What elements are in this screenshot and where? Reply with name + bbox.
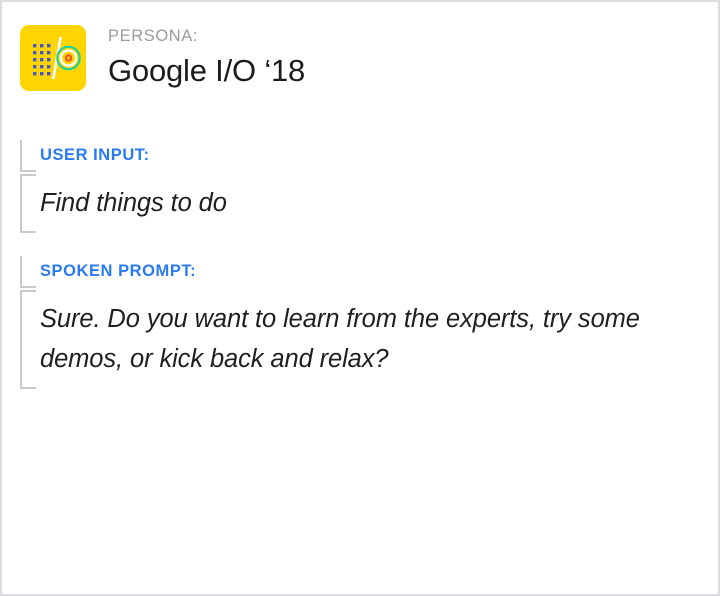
- persona-card: PERSONA: Google I/O ‘18 USER INPUT: Find…: [0, 0, 720, 596]
- persona-label: PERSONA:: [108, 27, 305, 47]
- spoken-prompt-value: Sure. Do you want to learn from the expe…: [40, 290, 680, 389]
- spoken-prompt-label-row: SPOKEN PROMPT:: [20, 256, 680, 288]
- card-header: PERSONA: Google I/O ‘18: [20, 25, 305, 91]
- spoken-prompt-label: SPOKEN PROMPT:: [40, 262, 196, 280]
- google-io-logo-icon: [20, 25, 86, 91]
- header-text-group: PERSONA: Google I/O ‘18: [108, 25, 305, 89]
- bracket-brace-icon: [20, 290, 36, 389]
- google-io-logo-svg: [20, 25, 86, 91]
- logo-center-core: [67, 57, 70, 60]
- bracket-corner-icon: [20, 256, 36, 288]
- user-input-value-row: Find things to do: [20, 174, 227, 233]
- field-block-spoken-prompt: SPOKEN PROMPT: Sure. Do you want to lear…: [20, 256, 680, 389]
- user-input-value: Find things to do: [40, 174, 227, 233]
- bracket-brace-icon: [20, 174, 36, 233]
- logo-dot-grid: [33, 44, 50, 75]
- field-block-user-input: USER INPUT: Find things to do: [20, 140, 227, 233]
- user-input-label-row: USER INPUT:: [20, 140, 227, 172]
- bracket-corner-icon: [20, 140, 36, 172]
- user-input-label: USER INPUT:: [40, 146, 150, 164]
- page-title: Google I/O ‘18: [108, 53, 305, 90]
- spoken-prompt-value-row: Sure. Do you want to learn from the expe…: [20, 290, 680, 389]
